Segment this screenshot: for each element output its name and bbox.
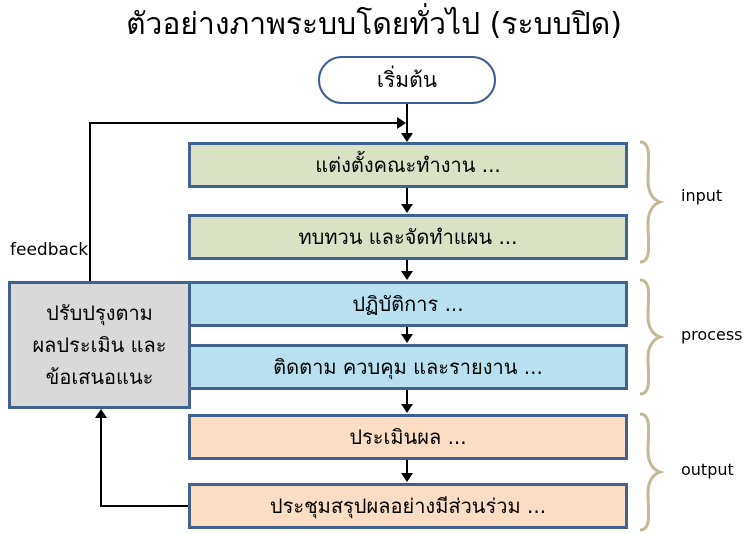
arrowhead-into-box5 (401, 404, 413, 413)
connector-feedback-vertical-up (89, 122, 91, 283)
start-node: เริ่มต้น (318, 56, 496, 104)
page-title: ตัวอย่างภาพระบบโดยทั่วไป (ระบบปิด) (0, 6, 748, 44)
process-box-6-label: ประชุมสรุปผลอย่างมีส่วนร่วม ... (270, 490, 546, 522)
diagram-canvas: ตัวอย่างภาพระบบโดยทั่วไป (ระบบปิด) เริ่ม… (0, 0, 748, 534)
arrowhead-into-box1 (401, 133, 413, 142)
process-box-3-label: ปฏิบัติการ ... (352, 288, 463, 320)
brace-input (636, 140, 676, 264)
process-box-6: ประชุมสรุปผลอย่างมีส่วนร่วม ... (188, 483, 628, 529)
process-box-4-label: ติดตาม ควบคุม และรายงาน ... (273, 351, 543, 383)
process-box-5-label: ประเมินผล ... (349, 421, 466, 453)
feedback-box-line-2: ผลประเมิน และ (32, 329, 166, 361)
process-box-2-label: ทบทวน และจัดทำแผน ... (298, 221, 517, 253)
arrowhead-into-box4 (401, 334, 413, 343)
arrowhead-into-box2 (401, 204, 413, 213)
process-box-2: ทบทวน และจัดทำแผน ... (188, 214, 628, 260)
process-box-1: แต่งตั้งคณะทำงาน ... (188, 142, 628, 188)
process-box-4: ติดตาม ควบคุม และรายงาน ... (188, 344, 628, 390)
connector-box4-to-box5 (406, 390, 408, 405)
group-label-output: output (681, 460, 734, 479)
connector-box1-to-box2 (406, 188, 408, 205)
feedback-box-line-3: ข้อเสนอแนะ (46, 361, 154, 393)
process-box-3: ปฏิบัติการ ... (188, 281, 628, 327)
connector-feedback-horizontal-top (89, 122, 399, 124)
arrowhead-into-feedback-box (95, 409, 107, 418)
arrowhead-feedback-into-spine (397, 117, 406, 129)
connector-box6-to-feedback-horizontal (100, 505, 190, 507)
arrowhead-into-box6 (401, 473, 413, 482)
process-box-1-label: แต่งตั้งคณะทำงาน ... (315, 149, 501, 181)
feedback-box-line-1: ปรับปรุงตาม (46, 297, 153, 329)
start-node-label: เริ่มต้น (377, 64, 437, 97)
process-box-5: ประเมินผล ... (188, 414, 628, 460)
connector-box5-to-box6 (406, 460, 408, 474)
arrowhead-into-box3 (401, 271, 413, 280)
feedback-box: ปรับปรุงตาม ผลประเมิน และ ข้อเสนอแนะ (8, 281, 191, 409)
group-label-input: input (681, 186, 722, 205)
brace-output (636, 412, 676, 532)
feedback-connector-label: feedback (10, 240, 88, 260)
group-label-process: process (681, 325, 742, 344)
connector-box6-to-feedback-vertical (100, 418, 102, 507)
brace-process (636, 278, 676, 396)
